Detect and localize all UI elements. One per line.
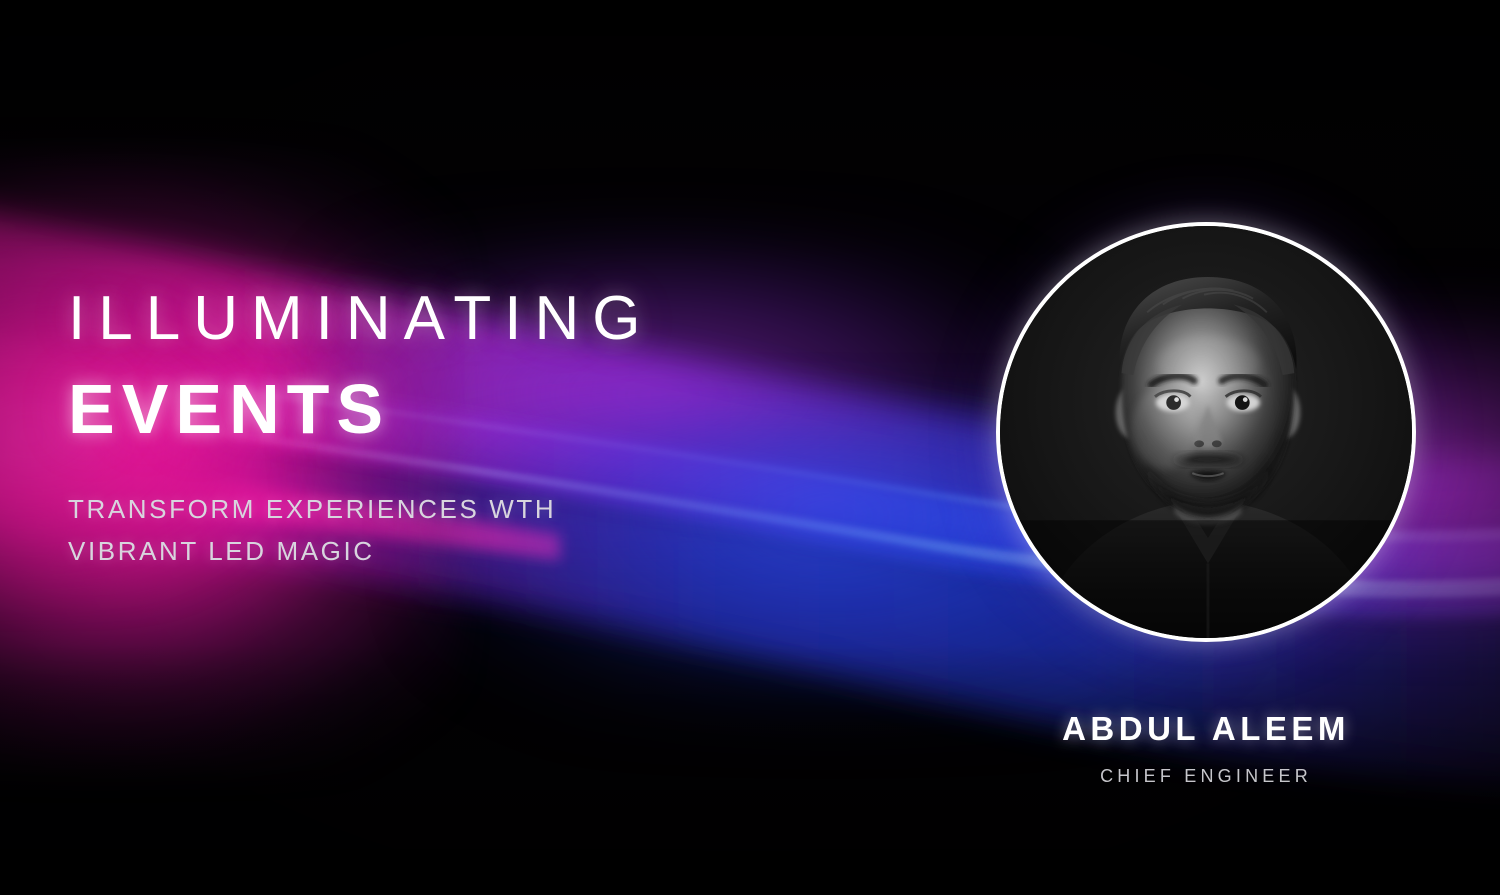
headline-block: ILLUMINATING EVENTS TRANSFORM EXPERIENCE… — [68, 288, 653, 572]
title-line-2: EVENTS — [68, 374, 653, 444]
portrait-photo — [1000, 226, 1412, 638]
speaker-credit-block: ABDUL ALEEM CHIEF ENGINEER — [996, 712, 1416, 785]
portrait-avatar — [996, 222, 1416, 642]
tagline-block: TRANSFORM EXPERIENCES WTH VIBRANT LED MA… — [68, 488, 653, 572]
speaker-name: ABDUL ALEEM — [996, 712, 1416, 745]
tagline-line-2: VIBRANT LED MAGIC — [68, 530, 653, 572]
title-line-1: ILLUMINATING — [68, 288, 653, 350]
tagline-line-1: TRANSFORM EXPERIENCES WTH — [68, 488, 653, 530]
poster-canvas: ILLUMINATING EVENTS TRANSFORM EXPERIENCE… — [0, 0, 1500, 895]
speaker-role: CHIEF ENGINEER — [996, 767, 1416, 785]
